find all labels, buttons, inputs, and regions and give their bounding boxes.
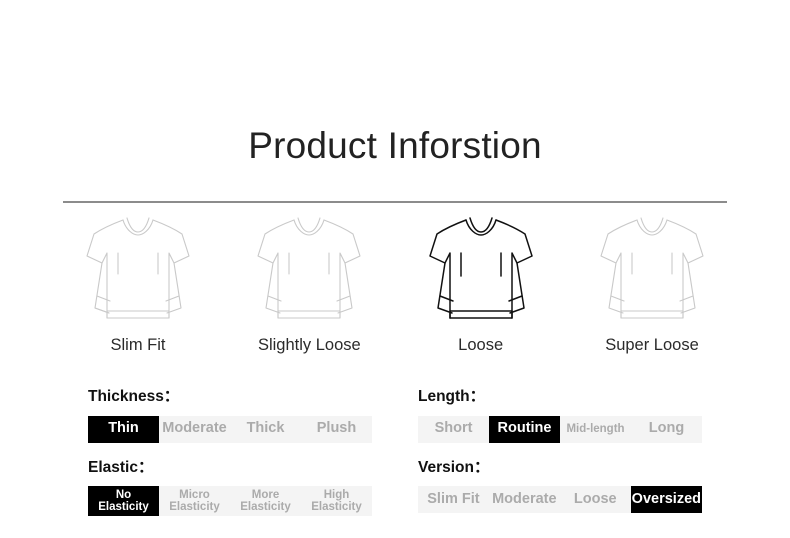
attribute-label: Version： (418, 459, 702, 478)
attribute-elastic: Elastic： No Elasticity Micro Elasticity … (88, 459, 372, 517)
attribute-label: Thickness： (88, 388, 372, 407)
sweatshirt-icon (256, 214, 362, 326)
elastic-option-more-elasticity[interactable]: More Elasticity (230, 486, 301, 516)
elastic-option-line1: No (116, 489, 131, 501)
version-option-moderate[interactable]: Moderate (489, 486, 560, 513)
page-title: Product Inforstion (0, 124, 790, 168)
sweatshirt-icon (85, 214, 191, 326)
length-option-mid-length[interactable]: Mid-length (560, 416, 631, 443)
product-information-page: Product Inforstion Slim Fit (0, 0, 790, 538)
version-option-loose[interactable]: Loose (560, 486, 631, 513)
length-option-routine[interactable]: Routine (489, 416, 560, 443)
elastic-option-line1: More (252, 489, 279, 501)
thickness-option-plush[interactable]: Plush (301, 416, 372, 443)
thickness-options: Thin Moderate Thick Plush (88, 416, 372, 443)
elastic-option-line2: Elasticity (169, 501, 220, 513)
length-options: Short Routine Mid-length Long (418, 416, 702, 443)
fit-option-label: Slightly Loose (258, 336, 361, 356)
elastic-option-line1: Micro (179, 489, 210, 501)
elastic-option-line2: Elasticity (240, 501, 291, 513)
version-options: Slim Fit Moderate Loose Oversized (418, 486, 702, 513)
attribute-length: Length： Short Routine Mid-length Long (418, 388, 702, 443)
elastic-option-line1: High (324, 489, 350, 501)
fit-option-slim-fit[interactable]: Slim Fit (63, 214, 213, 356)
attribute-grid: Thickness： Thin Moderate Thick Plush Len… (88, 388, 702, 532)
length-option-long[interactable]: Long (631, 416, 702, 443)
thickness-option-moderate[interactable]: Moderate (159, 416, 230, 443)
fit-option-label: Loose (458, 336, 503, 356)
fit-option-slightly-loose[interactable]: Slightly Loose (234, 214, 384, 356)
thickness-option-thin[interactable]: Thin (88, 416, 159, 443)
fit-option-label: Slim Fit (111, 336, 166, 356)
title-divider (63, 201, 727, 203)
thickness-option-thick[interactable]: Thick (230, 416, 301, 443)
version-option-oversized[interactable]: Oversized (631, 486, 702, 513)
elastic-option-no-elasticity[interactable]: No Elasticity (88, 486, 159, 516)
sweatshirt-icon (599, 214, 705, 326)
elastic-option-line2: Elasticity (311, 501, 362, 513)
fit-option-loose[interactable]: Loose (406, 214, 556, 356)
elastic-option-high-elasticity[interactable]: High Elasticity (301, 486, 372, 516)
attribute-label: Length： (418, 388, 702, 407)
attribute-row-2: Elastic： No Elasticity Micro Elasticity … (88, 459, 702, 517)
elastic-options: No Elasticity Micro Elasticity More Elas… (88, 486, 372, 516)
elastic-option-line2: Elasticity (98, 501, 149, 513)
version-option-slim-fit[interactable]: Slim Fit (418, 486, 489, 513)
fit-gallery: Slim Fit Slightly Loose (63, 214, 727, 354)
elastic-option-micro-elasticity[interactable]: Micro Elasticity (159, 486, 230, 516)
length-option-short[interactable]: Short (418, 416, 489, 443)
fit-option-super-loose[interactable]: Super Loose (577, 214, 727, 356)
fit-option-label: Super Loose (605, 336, 699, 356)
sweatshirt-icon (428, 214, 534, 326)
attribute-label: Elastic： (88, 459, 372, 478)
attribute-version: Version： Slim Fit Moderate Loose Oversiz… (418, 459, 702, 517)
attribute-row-1: Thickness： Thin Moderate Thick Plush Len… (88, 388, 702, 443)
attribute-thickness: Thickness： Thin Moderate Thick Plush (88, 388, 372, 443)
